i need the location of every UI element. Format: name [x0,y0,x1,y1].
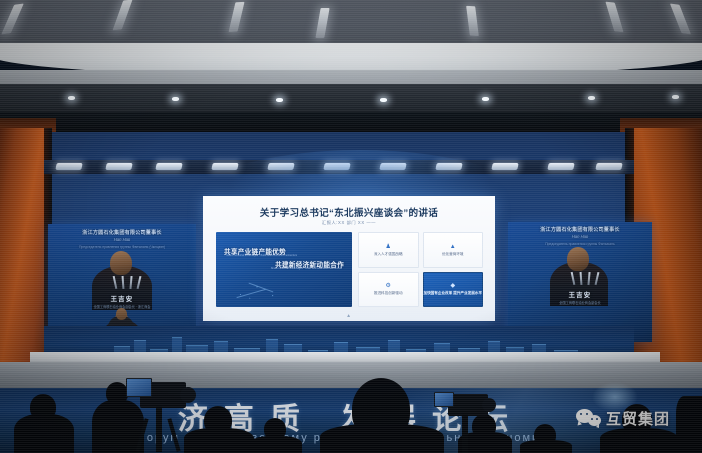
audience-body [676,396,702,453]
audience-body [184,428,254,453]
mini-card-label: 加快国有企业改革 提升产业发展水平 [424,291,483,295]
stage-light-bar [44,160,634,174]
slide-mini-card-active: ◆ 加快国有企业改革 提升产业发展水平 [423,272,484,308]
downlight [68,96,75,100]
side-screen-right: 浙江方圆石化集团有限公司董事长 Han Hao Председатель пра… [508,222,652,342]
slide-mini-card-grid: ♟ 深入人才强国战略 ▲ 优化营商环境 ⚙ 推进科技创新驱动 ◆ 加快国有企业改… [358,232,483,307]
slide-body: 共享产业链产能优势 共建新经济新动能合作 Share industrial ad… [216,232,483,307]
main-presentation-screen: 关于学习总书记“东北振兴座谈会”的讲话 汇报人:XX 部门 XX —— 共享产业… [203,196,495,321]
watermark-label: 互贸集团 [606,408,670,429]
slide-pointer-icon: ▲ [346,313,351,319]
hero-english-1: Share industrial advantages · Build new … [226,254,297,257]
wood-wall-panel-left [0,128,48,390]
slide-mini-card: ⚙ 推进科技创新驱动 [358,272,419,308]
slide-title: 关于学习总书记“东北振兴座谈会”的讲话 [203,205,495,219]
audience-body [250,436,302,453]
stage-speaker-head [116,308,127,320]
hero-english-2: Share industrial advantages · Build new … [271,267,342,270]
hero-decoration-graphic [230,278,282,300]
audience-body [600,428,678,453]
side-left-speaker-head [110,251,132,275]
mini-card-label: 推进科技创新驱动 [374,291,403,295]
slide-mini-card: ♟ 深入人才强国战略 [358,232,419,268]
side-left-org: 浙江方圆石化集团有限公司董事长 [57,229,187,236]
audience-body [520,440,572,453]
side-left-org-ru: Председатель правления группы Фанъюань (… [57,245,187,249]
ceiling [0,0,702,47]
downlight [482,97,489,101]
side-right-name-en: Han Hao [517,234,644,239]
side-right-speaker-name: 王吉安 [517,290,644,299]
slide-subtitle: 汇报人:XX 部门 XX —— [203,220,495,226]
side-right-org: 浙江方圆石化集团有限公司董事长 [517,226,644,233]
downlight [276,98,283,102]
wechat-icon [576,408,601,429]
slide-hero-card: 共享产业链产能优势 共建新经济新动能合作 Share industrial ad… [216,232,352,307]
side-left-name-en: Han Hao [57,237,187,242]
downlight [172,97,179,101]
audience-body-foreground [320,424,444,453]
chart-icon: ▲ [450,244,456,250]
downlight [588,96,595,100]
downlight [672,95,679,99]
conference-stage-photo: 浙江方圆石化集团有限公司董事长 Han Hao Председатель пра… [0,0,702,453]
mini-card-label: 优化营商环境 [442,252,464,256]
audience-body [14,414,74,453]
mini-card-label: 深入人才强国战略 [374,252,403,256]
side-right-speaker-sub: 全国工商联石油业商会副会长 [517,300,644,305]
people-icon: ♟ [386,244,391,250]
side-right-org-ru: Председатель правления группы Фанъюань [517,242,644,246]
gear-icon: ⚙ [386,283,391,289]
slide-mini-card: ▲ 优化营商环境 [423,232,484,268]
downlight [380,98,387,102]
rocket-icon: ◆ [450,283,455,289]
watermark: 互贸集团 [576,408,670,429]
side-left-speaker-name: 王吉安 [57,294,187,303]
side-right-speaker-head [567,247,589,271]
